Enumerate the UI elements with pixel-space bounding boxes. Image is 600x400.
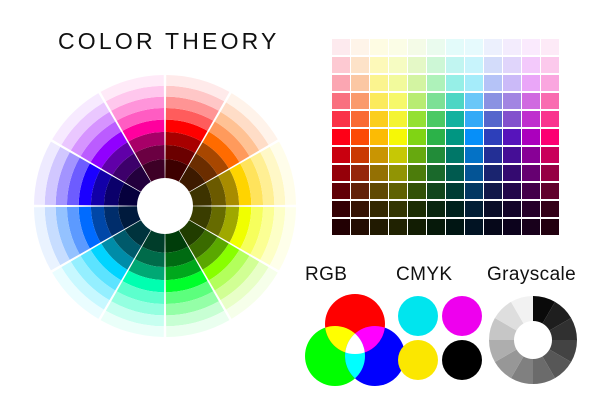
swatch-cell: [408, 129, 427, 147]
swatch-cell: [370, 183, 389, 201]
swatch-chip: [484, 219, 502, 235]
swatch-cell: [408, 183, 427, 201]
swatch-chip: [446, 93, 464, 109]
swatch-cell: [541, 39, 560, 57]
swatch-chip: [541, 111, 559, 127]
swatch-chip: [465, 165, 483, 181]
rgb-label: RGB: [305, 264, 405, 286]
swatch-chip: [465, 111, 483, 127]
swatch-chip: [446, 111, 464, 127]
swatch-cell: [541, 147, 560, 165]
swatch-cell: [465, 75, 484, 93]
swatch-cell: [427, 165, 446, 183]
swatch-chip: [465, 93, 483, 109]
swatch-cell: [465, 165, 484, 183]
swatch-chip: [446, 201, 464, 217]
swatch-chip: [351, 75, 369, 91]
swatch-chip: [541, 129, 559, 145]
swatch-chip: [522, 165, 540, 181]
swatch-chip: [484, 93, 502, 109]
swatch-chip: [370, 219, 388, 235]
swatch-chip: [389, 219, 407, 235]
swatch-chip: [503, 111, 521, 127]
swatch-cell: [446, 39, 465, 57]
swatch-cell: [370, 129, 389, 147]
swatch-cell: [351, 93, 370, 111]
swatch-cell: [408, 57, 427, 75]
swatch-chip: [522, 93, 540, 109]
swatch-chip: [332, 183, 350, 199]
swatch-cell: [522, 129, 541, 147]
swatch-chip: [370, 129, 388, 145]
swatch-chip: [408, 165, 426, 181]
swatch-chip: [351, 129, 369, 145]
swatch-cell: [370, 147, 389, 165]
swatch-cell: [389, 129, 408, 147]
swatch-cell: [370, 111, 389, 129]
swatch-chip: [484, 165, 502, 181]
cmyk-model: CMYK: [396, 264, 488, 386]
swatch-cell: [370, 201, 389, 219]
swatch-chip: [332, 165, 350, 181]
swatch-chip: [351, 111, 369, 127]
swatch-cell: [427, 57, 446, 75]
swatch-cell: [522, 39, 541, 57]
swatch-cell: [408, 147, 427, 165]
swatch-chip: [446, 57, 464, 73]
swatch-chip: [465, 57, 483, 73]
swatch-cell: [503, 39, 522, 57]
swatch-cell: [351, 183, 370, 201]
swatch-chip: [446, 129, 464, 145]
swatch-cell: [503, 111, 522, 129]
swatch-chip: [465, 183, 483, 199]
swatch-chip: [389, 183, 407, 199]
swatch-chip: [427, 183, 445, 199]
swatch-chip: [522, 39, 540, 55]
swatch-chip: [427, 219, 445, 235]
swatch-cell: [427, 75, 446, 93]
swatch-chip: [332, 129, 350, 145]
swatch-cell: [351, 147, 370, 165]
swatch-chip: [427, 165, 445, 181]
swatch-chip: [351, 165, 369, 181]
cmyk-label: CMYK: [396, 264, 488, 286]
swatch-cell: [522, 57, 541, 75]
grayscale-ring: [487, 294, 579, 386]
swatch-cell: [465, 57, 484, 75]
swatch-cell: [427, 147, 446, 165]
rgb-venn-svg: [305, 294, 405, 386]
swatch-cell: [446, 129, 465, 147]
cyan-dot: [398, 296, 438, 336]
swatch-chip: [503, 39, 521, 55]
swatch-chip: [484, 75, 502, 91]
swatch-chip: [332, 57, 350, 73]
swatch-cell: [503, 93, 522, 111]
swatch-chip: [522, 147, 540, 163]
swatch-cell: [541, 129, 560, 147]
swatch-chip: [408, 147, 426, 163]
swatch-cell: [541, 201, 560, 219]
swatch-chip: [332, 111, 350, 127]
swatch-chip: [351, 219, 369, 235]
swatch-cell: [541, 75, 560, 93]
swatch-cell: [389, 75, 408, 93]
swatch-cell: [332, 219, 351, 237]
swatch-chip: [446, 183, 464, 199]
swatch-chip: [541, 93, 559, 109]
swatch-cell: [389, 219, 408, 237]
swatch-cell: [446, 147, 465, 165]
swatch-cell: [427, 39, 446, 57]
swatch-cell: [465, 129, 484, 147]
swatch-chip: [370, 147, 388, 163]
swatch-cell: [503, 183, 522, 201]
swatch-chip: [332, 93, 350, 109]
swatch-cell: [484, 147, 503, 165]
swatch-cell: [541, 183, 560, 201]
swatch-cell: [351, 75, 370, 93]
swatch-chip: [332, 219, 350, 235]
swatch-cell: [332, 147, 351, 165]
swatch-cell: [465, 147, 484, 165]
swatch-cell: [465, 201, 484, 219]
grayscale-model: Grayscale: [487, 264, 579, 386]
swatch-cell: [522, 183, 541, 201]
swatch-cell: [503, 75, 522, 93]
swatch-cell: [446, 183, 465, 201]
swatch-chip: [503, 129, 521, 145]
swatch-chip: [484, 183, 502, 199]
swatch-chip: [408, 183, 426, 199]
swatch-chip: [503, 183, 521, 199]
swatch-cell: [389, 147, 408, 165]
swatch-cell: [370, 219, 389, 237]
swatch-chip: [408, 93, 426, 109]
grayscale-ring-svg: [487, 294, 579, 386]
swatch-cell: [389, 39, 408, 57]
swatch-cell: [522, 201, 541, 219]
swatch-chip: [351, 201, 369, 217]
swatch-cell: [332, 93, 351, 111]
swatch-cell: [389, 183, 408, 201]
swatch-chip: [465, 219, 483, 235]
grayscale-label: Grayscale: [487, 264, 579, 286]
swatch-cell: [484, 75, 503, 93]
swatch-chip: [541, 57, 559, 73]
swatch-chip: [408, 219, 426, 235]
swatch-cell: [427, 201, 446, 219]
swatch-chip: [389, 57, 407, 73]
swatch-chip: [465, 129, 483, 145]
swatch-cell: [408, 201, 427, 219]
swatch-chip: [522, 111, 540, 127]
swatch-chip: [332, 75, 350, 91]
swatch-cell: [389, 165, 408, 183]
swatch-chip: [484, 129, 502, 145]
swatch-cell: [351, 201, 370, 219]
swatch-cell: [427, 219, 446, 237]
swatch-cell: [541, 93, 560, 111]
swatch-cell: [446, 201, 465, 219]
swatch-chip: [427, 201, 445, 217]
swatch-chip: [351, 57, 369, 73]
swatch-cell: [408, 75, 427, 93]
swatch-chip: [389, 93, 407, 109]
swatch-chip: [427, 129, 445, 145]
swatch-cell: [332, 111, 351, 129]
swatch-chip: [503, 147, 521, 163]
swatch-chip: [408, 57, 426, 73]
swatch-cell: [503, 219, 522, 237]
swatch-cell: [332, 129, 351, 147]
swatch-chip: [484, 147, 502, 163]
swatch-chip: [541, 147, 559, 163]
swatch-cell: [465, 39, 484, 57]
swatch-chip: [351, 147, 369, 163]
swatch-chip: [370, 183, 388, 199]
swatch-cell: [503, 165, 522, 183]
swatch-chip: [503, 75, 521, 91]
swatch-cell: [446, 93, 465, 111]
swatch-chip: [541, 219, 559, 235]
swatch-cell: [389, 57, 408, 75]
swatch-cell: [484, 111, 503, 129]
rgb-venn: [305, 294, 405, 386]
swatch-cell: [484, 39, 503, 57]
swatch-cell: [446, 111, 465, 129]
swatch-cell: [446, 165, 465, 183]
swatch-cell: [541, 111, 560, 129]
swatch-chip: [351, 39, 369, 55]
cmyk-quad: [396, 294, 488, 386]
swatch-chip: [484, 39, 502, 55]
swatch-chip: [465, 39, 483, 55]
swatch-cell: [351, 165, 370, 183]
swatch-cell: [370, 57, 389, 75]
swatch-cell: [484, 219, 503, 237]
swatch-chip: [503, 93, 521, 109]
swatch-chip: [465, 147, 483, 163]
swatch-grid: [332, 39, 560, 237]
swatch-chip: [446, 165, 464, 181]
swatch-chip: [446, 219, 464, 235]
swatch-chip: [408, 39, 426, 55]
swatch-chip: [446, 39, 464, 55]
swatch-chip: [522, 201, 540, 217]
swatch-cell: [465, 219, 484, 237]
swatch-cell: [389, 93, 408, 111]
swatch-chip: [389, 147, 407, 163]
swatch-cell: [484, 201, 503, 219]
swatch-chip: [522, 129, 540, 145]
yellow-dot: [398, 340, 438, 380]
magenta-dot: [442, 296, 482, 336]
swatch-chip: [541, 75, 559, 91]
swatch-chip: [332, 201, 350, 217]
swatch-cell: [332, 183, 351, 201]
swatch-cell: [522, 111, 541, 129]
swatch-cell: [484, 165, 503, 183]
swatch-chip: [351, 93, 369, 109]
swatch-chip: [465, 75, 483, 91]
swatch-chip: [370, 93, 388, 109]
swatch-cell: [541, 219, 560, 237]
swatch-chip: [389, 129, 407, 145]
swatch-chip: [522, 75, 540, 91]
black-dot: [442, 340, 482, 380]
swatch-cell: [522, 147, 541, 165]
swatch-chip: [408, 201, 426, 217]
swatch-chip: [370, 57, 388, 73]
swatch-cell: [370, 165, 389, 183]
swatch-cell: [427, 183, 446, 201]
swatch-chip: [522, 57, 540, 73]
swatch-cell: [351, 39, 370, 57]
swatch-cell: [351, 111, 370, 129]
swatch-chip: [484, 57, 502, 73]
swatch-cell: [351, 129, 370, 147]
swatch-chip: [389, 111, 407, 127]
swatch-chip: [408, 129, 426, 145]
swatch-chip: [484, 111, 502, 127]
swatch-cell: [408, 93, 427, 111]
swatch-chip: [370, 201, 388, 217]
swatch-cell: [541, 165, 560, 183]
swatch-chip: [541, 165, 559, 181]
swatch-cell: [332, 75, 351, 93]
swatch-chip: [503, 165, 521, 181]
swatch-chip: [370, 165, 388, 181]
swatch-chip: [522, 219, 540, 235]
swatch-chip: [332, 147, 350, 163]
swatch-cell: [446, 219, 465, 237]
swatch-cell: [408, 219, 427, 237]
swatch-cell: [503, 57, 522, 75]
swatch-cell: [408, 39, 427, 57]
swatch-cell: [427, 129, 446, 147]
rgb-model: RGB: [305, 264, 405, 386]
swatch-chip: [503, 219, 521, 235]
swatch-chip: [465, 201, 483, 217]
swatch-chip: [408, 75, 426, 91]
swatch-chip: [503, 201, 521, 217]
color-wheel-svg: [33, 74, 297, 338]
swatch-chip: [503, 57, 521, 73]
swatch-cell: [370, 93, 389, 111]
swatch-cell: [351, 57, 370, 75]
swatch-cell: [541, 57, 560, 75]
swatch-cell: [484, 183, 503, 201]
swatch-cell: [427, 93, 446, 111]
swatch-chip: [370, 75, 388, 91]
swatch-cell: [522, 165, 541, 183]
swatch-cell: [351, 219, 370, 237]
swatch-chip: [427, 57, 445, 73]
swatch-chip: [541, 201, 559, 217]
swatch-chip: [484, 201, 502, 217]
swatch-cell: [503, 201, 522, 219]
swatch-cell: [503, 129, 522, 147]
swatch-chip: [389, 165, 407, 181]
swatch-cell: [484, 57, 503, 75]
swatch-chip: [389, 75, 407, 91]
swatch-chip: [427, 111, 445, 127]
swatch-cell: [465, 93, 484, 111]
swatch-chip: [332, 39, 350, 55]
swatch-chip: [370, 39, 388, 55]
swatch-chip: [370, 111, 388, 127]
swatch-cell: [503, 147, 522, 165]
swatch-cell: [332, 39, 351, 57]
swatch-chip: [427, 39, 445, 55]
swatch-cell: [484, 93, 503, 111]
swatch-cell: [465, 183, 484, 201]
swatch-cell: [332, 165, 351, 183]
swatch-cell: [332, 201, 351, 219]
swatch-cell: [408, 111, 427, 129]
swatch-chip: [446, 75, 464, 91]
swatch-cell: [370, 39, 389, 57]
swatch-cell: [522, 219, 541, 237]
swatch-chip: [522, 183, 540, 199]
swatch-chip: [427, 93, 445, 109]
swatch-cell: [465, 111, 484, 129]
swatch-cell: [446, 75, 465, 93]
swatch-cell: [370, 75, 389, 93]
swatch-cell: [484, 129, 503, 147]
swatch-cell: [522, 75, 541, 93]
swatch-cell: [522, 93, 541, 111]
swatch-chip: [408, 111, 426, 127]
swatch-cell: [389, 111, 408, 129]
swatch-cell: [332, 57, 351, 75]
swatch-chip: [351, 183, 369, 199]
color-wheel: [33, 74, 297, 338]
swatch-cell: [427, 111, 446, 129]
swatch-chip: [541, 183, 559, 199]
swatch-cell: [408, 165, 427, 183]
swatch-chip: [446, 147, 464, 163]
swatch-cell: [446, 57, 465, 75]
swatch-cell: [389, 201, 408, 219]
swatch-chip: [389, 39, 407, 55]
swatch-chip: [427, 147, 445, 163]
swatch-chip: [541, 39, 559, 55]
swatch-chip: [389, 201, 407, 217]
page-title: COLOR THEORY: [58, 28, 280, 55]
swatch-chip: [427, 75, 445, 91]
